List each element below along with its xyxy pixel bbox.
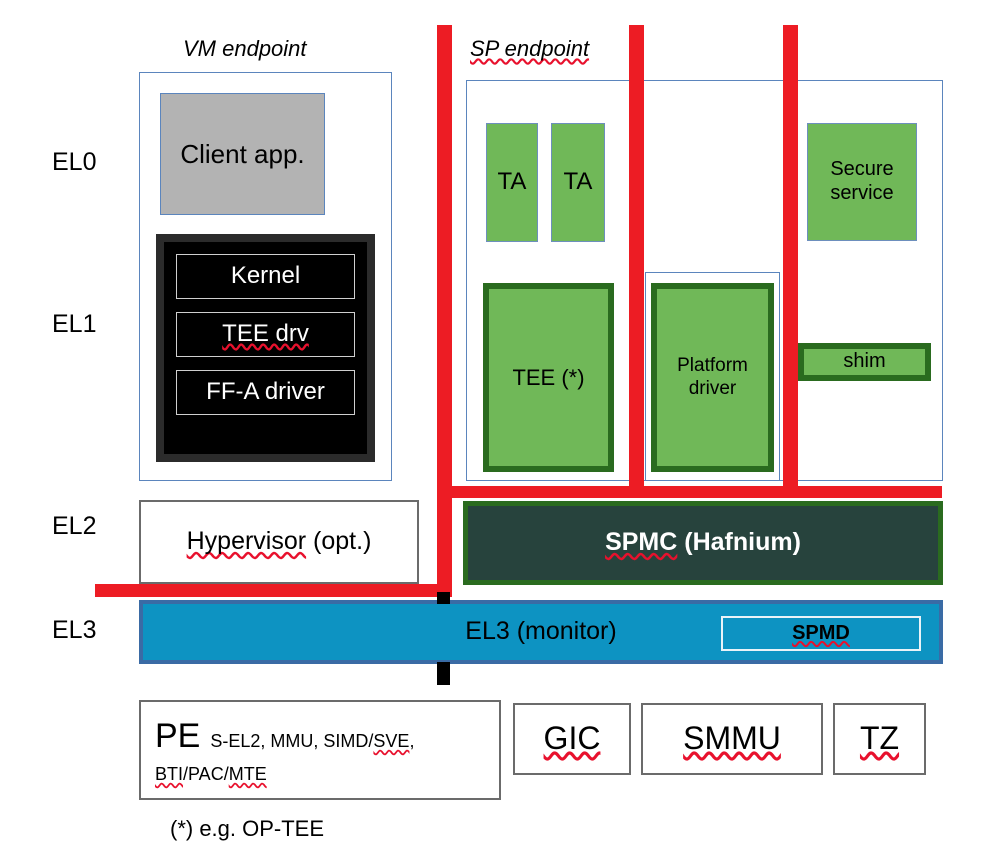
footnote: (*) e.g. OP-TEE — [170, 816, 324, 842]
vm-kernel-panel: Kernel TEE drv FF-A driver — [156, 234, 375, 462]
el-label-el0: EL0 — [52, 148, 96, 177]
secure-service-label-line1: Secure — [830, 158, 893, 182]
hypervisor-label: Hypervisor (opt.) — [187, 527, 372, 557]
smmu-label: SMMU — [683, 720, 781, 758]
kernel-label: Kernel — [231, 262, 300, 290]
gic-label: GIC — [544, 720, 601, 758]
tee-drv-box: TEE drv — [176, 312, 355, 357]
el-label-el3: EL3 — [52, 616, 96, 645]
pe-box: PE S-EL2, MMU, SIMD/SVE, BTI/PAC/MTE — [139, 700, 501, 800]
shim-box: shim — [798, 343, 931, 381]
el3-monitor-label: EL3 (monitor) — [465, 617, 616, 647]
gic-box: GIC — [513, 703, 631, 775]
el-label-el1: EL1 — [52, 310, 96, 339]
spmc-label: SPMC (Hafnium) — [605, 528, 801, 558]
red-boundary-vertical-1 — [437, 25, 452, 498]
secure-service-label-line2: service — [830, 182, 893, 206]
el-label-el2: EL2 — [52, 512, 96, 541]
tz-box: TZ — [833, 703, 926, 775]
el3-monitor-box: EL3 (monitor) SPMD — [139, 600, 943, 664]
platform-driver-box: Platform driver — [651, 283, 774, 472]
red-boundary-horizontal-bottom — [95, 584, 452, 597]
shim-label: shim — [843, 350, 885, 374]
sp-endpoint-title-text: SP endpoint — [470, 36, 589, 61]
pe-text-block: PE S-EL2, MMU, SIMD/SVE, BTI/PAC/MTE — [155, 712, 489, 787]
pe-details-line2: BTI/PAC/MTE — [155, 761, 489, 787]
kernel-box: Kernel — [176, 254, 355, 299]
vm-endpoint-title: VM endpoint — [183, 36, 307, 62]
ta-box-1: TA — [486, 123, 538, 242]
sp-endpoint-title: SP endpoint — [470, 36, 589, 62]
platform-driver-label-line1: Platform — [677, 355, 748, 377]
ta-label-2: TA — [564, 168, 593, 196]
pe-label: PE — [155, 717, 200, 755]
red-boundary-horizontal-top — [437, 486, 942, 498]
hypervisor-box: Hypervisor (opt.) — [139, 500, 419, 584]
secure-service-box: Secure service — [807, 123, 917, 241]
pe-details-line1: S-EL2, MMU, SIMD/SVE, — [205, 731, 414, 751]
connector-above-el3 — [437, 592, 450, 604]
spmd-label: SPMD — [792, 622, 850, 646]
red-boundary-vertical-3 — [783, 25, 798, 498]
tz-label: TZ — [860, 720, 899, 758]
spmd-box: SPMD — [721, 616, 921, 651]
ta-label-1: TA — [498, 168, 527, 196]
red-boundary-vertical-1b — [437, 498, 452, 597]
connector-below-el3 — [437, 662, 450, 685]
ffa-driver-box: FF-A driver — [176, 370, 355, 415]
ffa-driver-label: FF-A driver — [206, 378, 325, 406]
client-app-label: Client app. — [180, 139, 304, 170]
red-boundary-vertical-2 — [629, 25, 644, 498]
spmc-box: SPMC (Hafnium) — [463, 501, 943, 585]
tee-label: TEE (*) — [512, 365, 584, 391]
platform-driver-label-line2: driver — [677, 378, 748, 400]
architecture-diagram: EL0 EL1 EL2 EL3 VM endpoint SP endpoint … — [0, 0, 997, 858]
tee-drv-label: TEE drv — [222, 320, 309, 348]
smmu-box: SMMU — [641, 703, 823, 775]
client-app-box: Client app. — [160, 93, 325, 215]
ta-box-2: TA — [551, 123, 605, 242]
tee-box: TEE (*) — [483, 283, 614, 472]
